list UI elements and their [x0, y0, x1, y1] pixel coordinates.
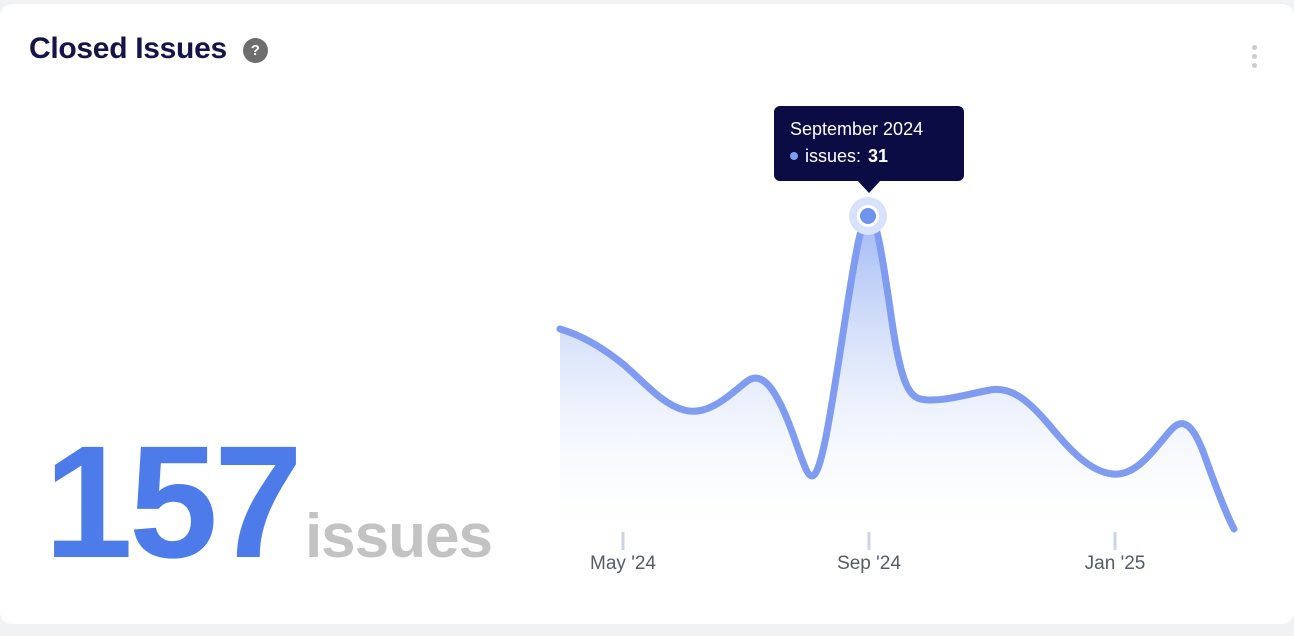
chart-data-point[interactable]	[857, 205, 879, 227]
kpi-block: 157 issues	[44, 422, 492, 582]
kpi-unit: issues	[305, 506, 492, 568]
tooltip-series-value: 31	[868, 146, 888, 167]
tooltip-arrow	[857, 180, 881, 193]
kebab-dot	[1252, 63, 1257, 68]
tooltip-series-label: issues:	[805, 146, 861, 167]
page-title: Closed Issues	[29, 34, 227, 64]
x-axis-label-sep-24: Sep '24	[837, 553, 901, 575]
x-axis-label-jan-25: Jan '25	[1085, 553, 1146, 575]
chart-line	[560, 216, 1234, 529]
kebab-dot	[1252, 54, 1257, 59]
kebab-dot	[1252, 45, 1257, 50]
closed-issues-card: Closed Issues ?	[0, 4, 1294, 624]
x-axis-label-may-24: May '24	[590, 553, 656, 575]
chart-area-fill	[560, 216, 1234, 536]
kebab-menu-icon[interactable]	[1244, 40, 1264, 72]
chart-tooltip: September 2024 issues: 31	[774, 106, 964, 181]
kpi-value: 157	[44, 422, 299, 582]
tooltip-series-row: issues: 31	[790, 146, 948, 167]
question-mark-icon[interactable]: ?	[243, 38, 268, 63]
card-header: Closed Issues ?	[0, 4, 1294, 96]
series-color-dot	[790, 152, 798, 160]
title-row: Closed Issues ?	[29, 34, 268, 64]
tooltip-title: September 2024	[790, 118, 948, 141]
